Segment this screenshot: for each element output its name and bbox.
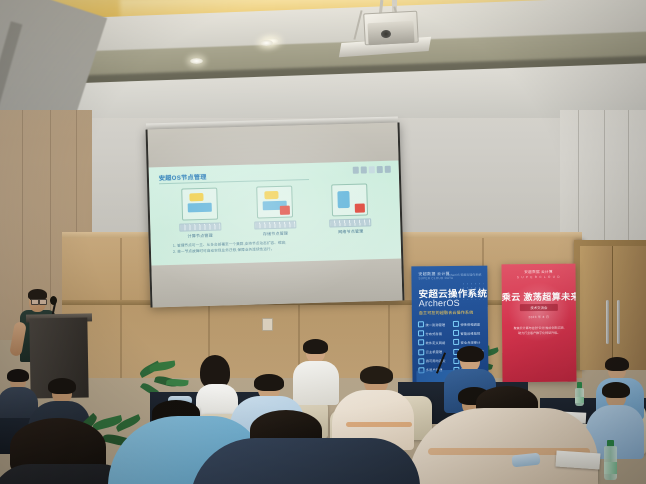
node-rack-bar [179, 223, 221, 232]
water-bottle [575, 382, 584, 406]
check-icon [418, 321, 424, 327]
node-sun-shape [264, 191, 278, 199]
node-caption: 网络节点管理 [325, 228, 377, 235]
node-sun-shape [189, 193, 203, 201]
slide-mini-icon [369, 166, 375, 173]
node-caption: 计算节点管理 [174, 232, 226, 239]
event-topic-banner: 安超数据 云计算 S U P E R C L O U D 乘云 激荡超算未来 技… [501, 264, 576, 383]
wall-outlet [262, 318, 273, 331]
node-blue-shape [187, 203, 211, 213]
glasses-lens-left [31, 299, 39, 305]
check-icon [418, 349, 424, 355]
banner-logo-right: ArcherOS 安超云操作系统 [446, 273, 481, 277]
node-rack-bar [329, 218, 371, 227]
water-bottle [604, 440, 617, 480]
slide-title: 安超OS节点管理 [159, 172, 207, 182]
check-icon [418, 330, 424, 336]
slide-mini-icon [385, 166, 391, 173]
slide-node-network: 网络节点管理 [323, 183, 376, 235]
check-icon [453, 321, 459, 327]
banner-feature-item: 智能运维监控 [453, 330, 484, 336]
downlight-icon [190, 58, 203, 64]
slide-node-diagram: 计算节点管理 存储节点管理 [149, 183, 400, 241]
compute-node-icon [181, 188, 218, 221]
banner-feature-item: 统一资源管理 [418, 321, 449, 327]
check-icon [418, 340, 424, 346]
slide-node-storage: 存储节点管理 [248, 185, 301, 237]
network-node-icon [331, 183, 368, 216]
check-icon [418, 358, 424, 364]
banner-feature-item: 软件定义网络 [418, 339, 449, 345]
slide-mini-icon [361, 166, 367, 173]
slide-body-text: 1. 管理节点可一主、从多台部署至一个集群,支持节点动态扩容、缩容; 2. 单一… [173, 238, 353, 255]
banner-date: 2023 年 8 月 [502, 315, 576, 320]
conference-room-photo: 安超OS节点管理 计算节点管理 [0, 0, 646, 484]
projected-slide: 安超OS节点管理 计算节点管理 [149, 161, 402, 266]
bottle-label [604, 462, 617, 474]
slide-icon-row [353, 166, 391, 174]
node-cylinder-shape [338, 191, 350, 208]
banner-subtitle: ArcherOS [419, 298, 460, 308]
banner-body-line: 助力行业客户数字化转型升级。 [510, 330, 568, 335]
slide-mini-icon [353, 167, 359, 174]
microphone-icon [50, 296, 57, 305]
bottle-label [575, 397, 584, 403]
banner-pill-label: 技术交流会 [502, 304, 576, 310]
banner-feature-item: 弹性伸缩调度 [453, 321, 484, 327]
banner-feature-column-left: 统一资源管理 分布式存储 软件定义网络 云主机管理 高可用与容灾 多租户管理 [418, 321, 450, 376]
banner-feature-item: 高可用与容灾 [418, 358, 449, 364]
banner-tagline: 自主可控的超融合云操作系统 [419, 310, 474, 317]
node-alert-shape [280, 206, 290, 215]
banner-logo-subtext: S U P E R C L O U D [502, 275, 576, 280]
bottle-body [604, 446, 617, 480]
slide-node-compute: 计算节点管理 [173, 187, 226, 239]
notepad [555, 450, 600, 469]
screen-blank-bottom [151, 258, 402, 307]
projection-screen: 安超OS节点管理 计算节点管理 [146, 122, 405, 307]
check-icon [453, 330, 459, 336]
glasses-lens-right [39, 299, 47, 305]
banner-feature-item: 分布式存储 [418, 330, 449, 336]
door-handle[interactable] [617, 300, 620, 344]
slide-mini-icon [377, 166, 383, 173]
door-handle[interactable] [606, 300, 609, 344]
node-rack-bar [254, 220, 296, 229]
banner-body-text: 聚焦云计算与信创“云化”融合创新实践, 助力行业客户数字化转型升级。 [510, 326, 568, 336]
banner-feature-item: 安全合规审计 [453, 339, 484, 345]
check-icon [453, 339, 459, 345]
node-alert-shape [355, 203, 365, 212]
storage-node-icon [256, 186, 293, 219]
node-caption: 存储节点管理 [249, 230, 301, 237]
bottle-body [575, 388, 584, 406]
banner-title: 乘云 激荡超算未来 [502, 290, 576, 304]
